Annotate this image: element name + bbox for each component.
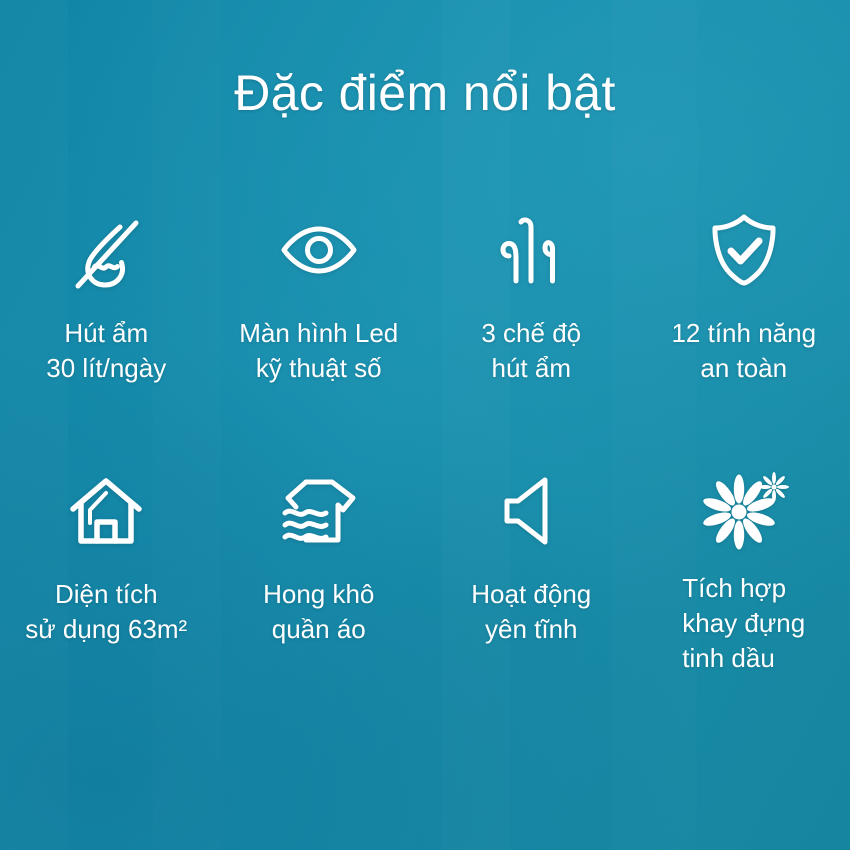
eye-display-icon xyxy=(276,200,362,300)
feature-caption: Màn hình Led kỹ thuật số xyxy=(239,316,398,386)
feature-row-2: Diện tích sử dụng 63m² Hong khô quần áo xyxy=(0,461,850,676)
feature-poster: Đặc điểm nổi bật Hút ẩm 30 lít/ngày xyxy=(0,0,850,850)
feature-item-three-modes[interactable]: 3 chế độ hút ẩm xyxy=(425,200,638,386)
dehumidify-drop-icon xyxy=(63,200,149,300)
feature-caption: 3 chế độ hút ẩm xyxy=(481,316,581,386)
quiet-speaker-icon xyxy=(488,461,574,561)
feature-caption: Tích hợp khay đựng tinh dầu xyxy=(682,571,805,676)
airflow-modes-icon xyxy=(488,200,574,300)
feature-item-essential-oil-tray[interactable]: Tích hợp khay đựng tinh dầu xyxy=(638,461,850,676)
feature-item-dry-clothes[interactable]: Hong khô quần áo xyxy=(213,461,426,676)
feature-item-led-display[interactable]: Màn hình Led kỹ thuật số xyxy=(213,200,426,386)
aroma-flower-icon xyxy=(699,461,789,561)
feature-caption: 12 tính năng an toàn xyxy=(671,316,816,386)
house-icon xyxy=(63,461,149,561)
feature-caption: Diện tích sử dụng 63m² xyxy=(25,577,187,647)
feature-item-dehumidify[interactable]: Hút ẩm 30 lít/ngày xyxy=(0,200,213,386)
feature-item-coverage-area[interactable]: Diện tích sử dụng 63m² xyxy=(0,461,213,676)
page-title: Đặc điểm nổi bật xyxy=(0,62,850,124)
feature-item-quiet-operation[interactable]: Hoạt động yên tĩnh xyxy=(425,461,638,676)
feature-caption: Hoạt động yên tĩnh xyxy=(471,577,591,647)
tshirt-dry-icon xyxy=(276,461,362,561)
shield-check-icon xyxy=(701,200,787,300)
feature-caption: Hút ẩm 30 lít/ngày xyxy=(46,316,166,386)
feature-grid: Hút ẩm 30 lít/ngày Màn hình Led kỹ thuật… xyxy=(0,200,850,676)
feature-row-1: Hút ẩm 30 lít/ngày Màn hình Led kỹ thuật… xyxy=(0,200,850,386)
feature-item-safety[interactable]: 12 tính năng an toàn xyxy=(638,200,850,386)
feature-caption: Hong khô quần áo xyxy=(263,577,374,647)
